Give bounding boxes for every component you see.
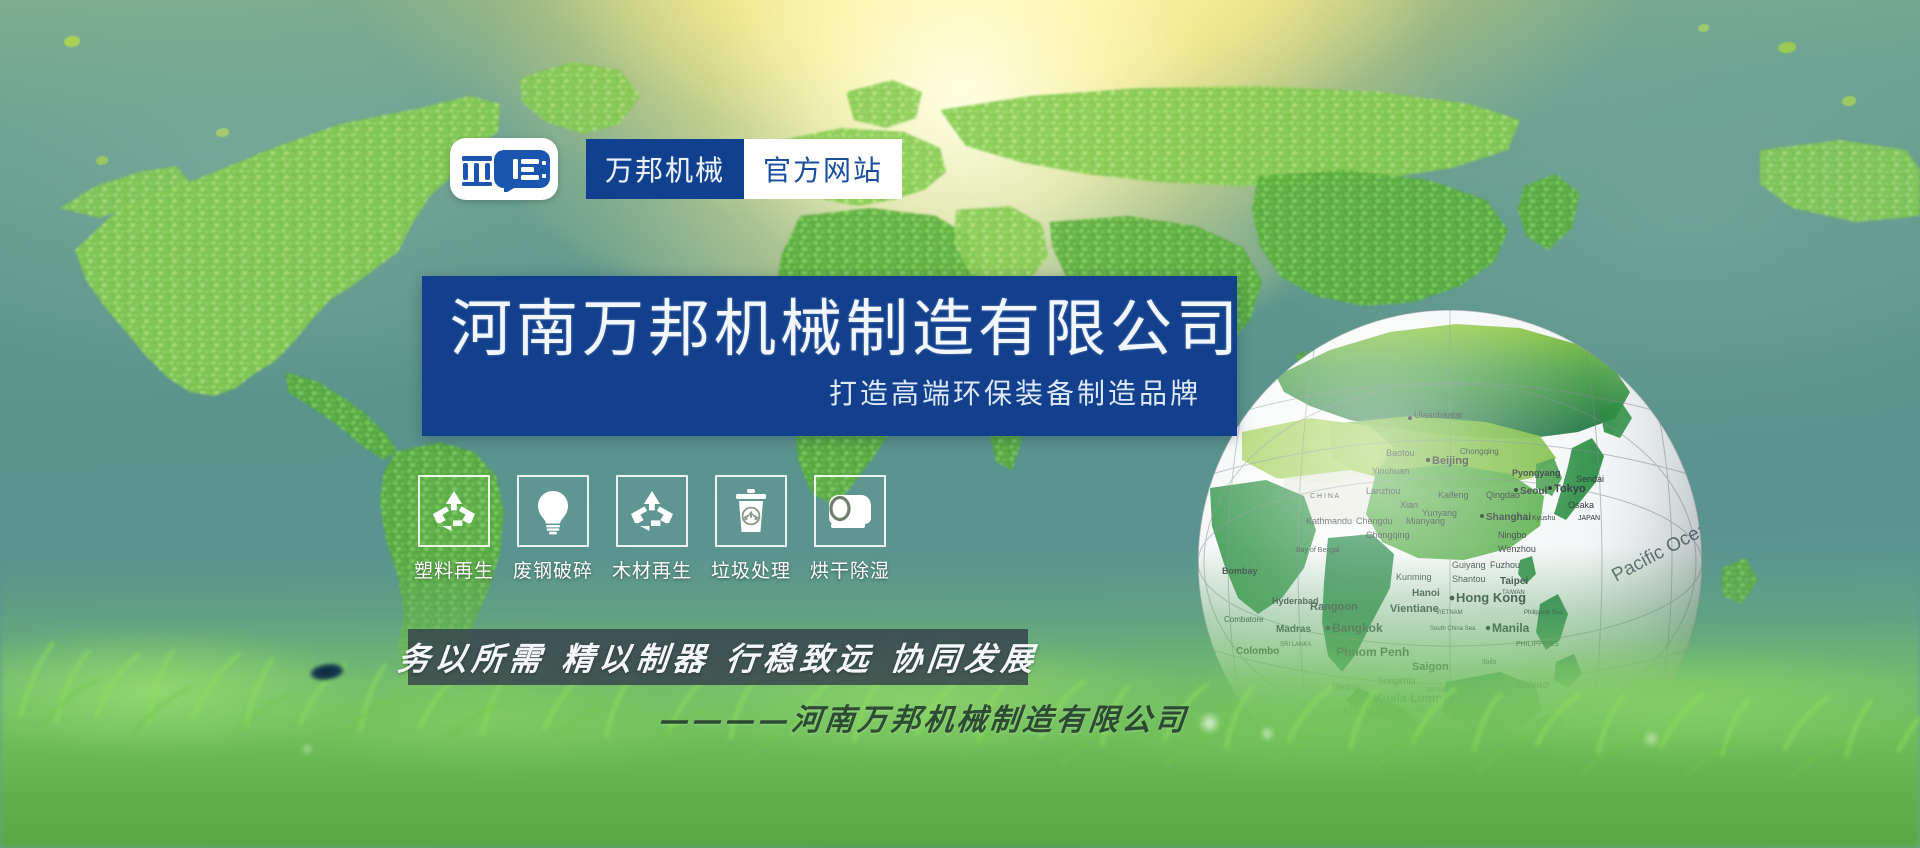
- icon-box: [715, 475, 787, 547]
- company-logo[interactable]: [450, 138, 558, 200]
- hero-title-panel: 河南万邦机械制造有限公司 打造高端环保装备制造品牌: [422, 276, 1237, 436]
- wanbang-logo-icon: [456, 146, 552, 192]
- service-icon-row: 塑料再生 废钢破碎 木材再生: [418, 475, 886, 583]
- page-title: 河南万邦机械制造有限公司: [450, 290, 1201, 368]
- icon-box: [418, 475, 490, 547]
- recycle-icon: [628, 487, 676, 535]
- service-wood-recycling[interactable]: 木材再生: [616, 475, 688, 583]
- page-tagline: 打造高端环保装备制造品牌: [450, 374, 1201, 414]
- brand-tab-group: 万邦机械 官方网站: [586, 139, 902, 199]
- site-header: 万邦机械 官方网站: [450, 138, 902, 200]
- slogan-text: 务以所需 精以制器 行稳致远 协同发展: [395, 634, 1040, 680]
- service-scrap-steel-crushing[interactable]: 废钢破碎: [517, 475, 589, 583]
- service-drying-dehumidifying[interactable]: 烘干除湿: [814, 475, 886, 583]
- tab-official-site[interactable]: 官方网站: [744, 139, 902, 199]
- icon-box: [814, 475, 886, 547]
- slogan-attribution: ————河南万邦机械制造有限公司: [658, 695, 1183, 739]
- hero-banner: Ulaanbaatar Beijing Baotou Yinchuan Lanz…: [0, 0, 1920, 848]
- service-label: 烘干除湿: [810, 556, 890, 583]
- recycle-icon: [430, 487, 478, 535]
- service-label: 废钢破碎: [513, 556, 593, 583]
- trash-bin-icon: [729, 487, 773, 535]
- service-label: 木材再生: [612, 556, 692, 583]
- service-label: 垃圾处理: [711, 556, 791, 583]
- lightbulb-icon: [529, 487, 577, 535]
- icon-box: [517, 475, 589, 547]
- service-plastic-recycling[interactable]: 塑料再生: [418, 475, 490, 583]
- dryer-icon: [825, 491, 875, 531]
- service-waste-treatment[interactable]: 垃圾处理: [715, 475, 787, 583]
- slogan-banner: 务以所需 精以制器 行稳致远 协同发展: [408, 629, 1028, 685]
- icon-box: [616, 475, 688, 547]
- service-label: 塑料再生: [414, 556, 494, 583]
- tab-company-name[interactable]: 万邦机械: [586, 139, 744, 199]
